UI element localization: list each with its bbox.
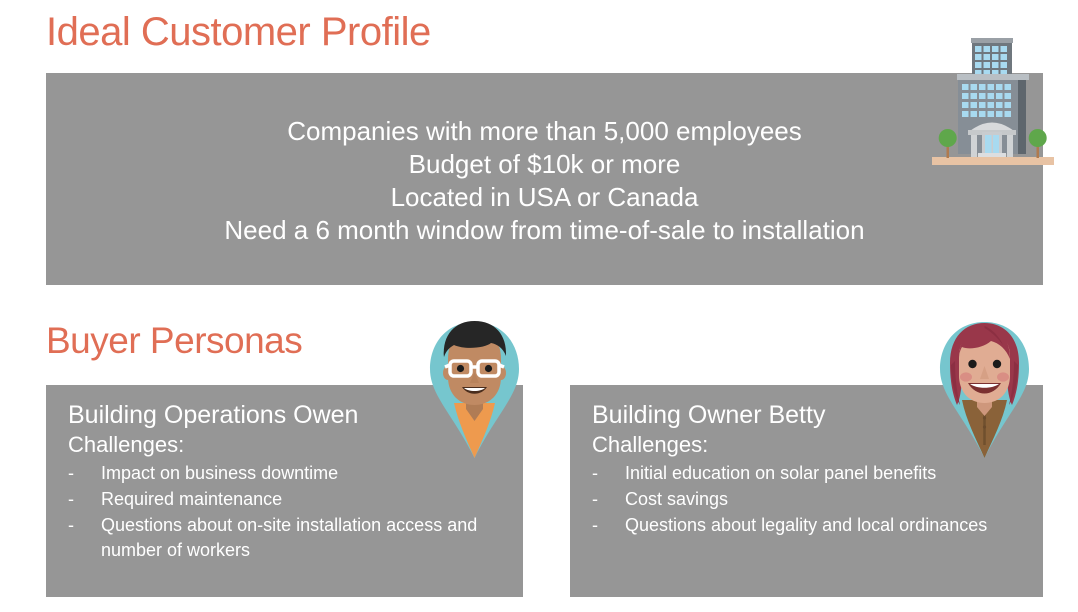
bullet-dash-icon: - bbox=[68, 513, 74, 538]
bullet-dash-icon: - bbox=[68, 461, 74, 486]
list-item: - Cost savings bbox=[592, 487, 1033, 512]
bullet-dash-icon: - bbox=[68, 487, 74, 512]
list-item-label: Required maintenance bbox=[101, 489, 282, 509]
list-item: - Impact on business downtime bbox=[68, 461, 513, 486]
list-item: - Required maintenance bbox=[68, 487, 513, 512]
persona-challenge-list: - Impact on business downtime - Required… bbox=[68, 461, 513, 563]
list-item-label: Impact on business downtime bbox=[101, 463, 338, 483]
bullet-dash-icon: - bbox=[592, 513, 598, 538]
page-title-buyer-personas: Buyer Personas bbox=[46, 318, 302, 364]
icp-panel: Companies with more than 5,000 employees… bbox=[46, 73, 1043, 285]
icp-criteria-list: Companies with more than 5,000 employees… bbox=[46, 115, 1043, 247]
list-item-label: Initial education on solar panel benefit… bbox=[625, 463, 936, 483]
avatar-betty bbox=[933, 317, 1036, 460]
bullet-dash-icon: - bbox=[592, 487, 598, 512]
list-item-label: Questions about on-site installation acc… bbox=[101, 515, 477, 560]
office-building-icon bbox=[908, 14, 1068, 174]
icp-criteria-item: Need a 6 month window from time-of-sale … bbox=[46, 214, 1043, 247]
bullet-dash-icon: - bbox=[592, 461, 598, 486]
avatar-owen bbox=[423, 317, 526, 460]
list-item: - Questions about on-site installation a… bbox=[68, 513, 513, 563]
list-item-label: Cost savings bbox=[625, 489, 728, 509]
icp-criteria-item: Budget of $10k or more bbox=[46, 148, 1043, 181]
list-item: - Questions about legality and local ord… bbox=[592, 513, 1033, 538]
icp-criteria-item: Companies with more than 5,000 employees bbox=[46, 115, 1043, 148]
icp-criteria-item: Located in USA or Canada bbox=[46, 181, 1043, 214]
slide-canvas: Ideal Customer Profile Companies with mo… bbox=[0, 0, 1078, 612]
list-item-label: Questions about legality and local ordin… bbox=[625, 515, 987, 535]
persona-challenge-list: - Initial education on solar panel benef… bbox=[592, 461, 1033, 538]
page-title-ideal-customer-profile: Ideal Customer Profile bbox=[46, 8, 431, 56]
list-item: - Initial education on solar panel benef… bbox=[592, 461, 1033, 486]
